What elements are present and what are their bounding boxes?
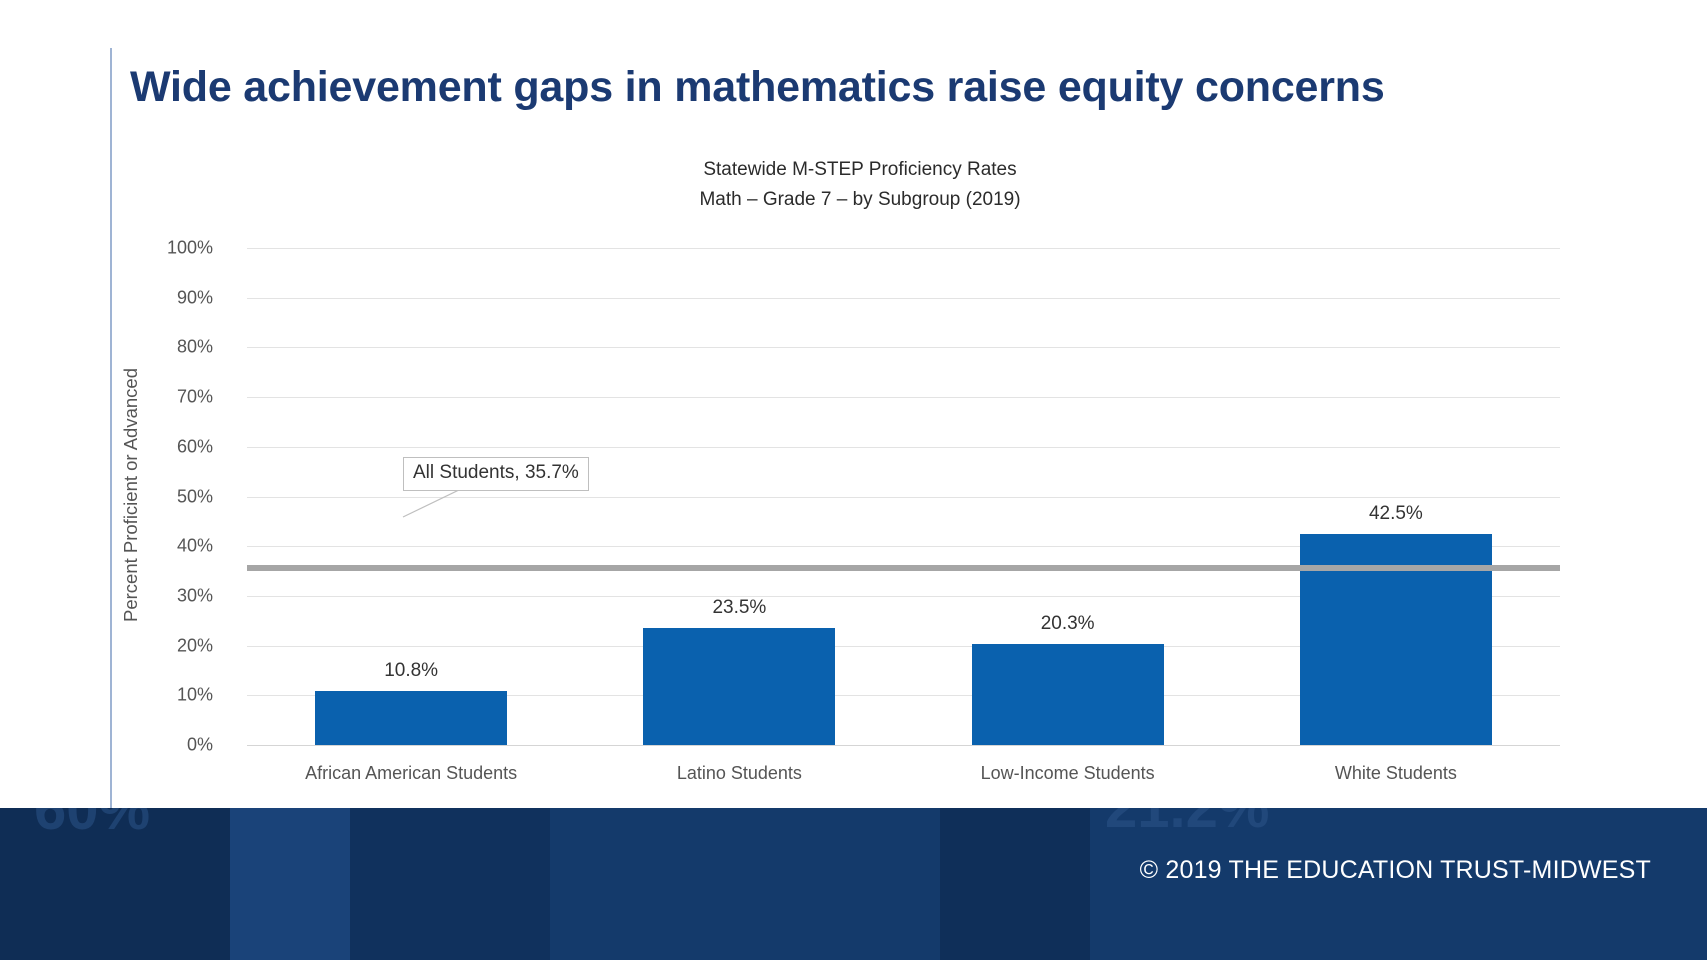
y-tick-70%: 70%: [177, 387, 213, 408]
x-axis-category-label: African American Students: [305, 763, 517, 784]
bar-latino-students[interactable]: [643, 628, 835, 745]
y-tick-60%: 60%: [177, 436, 213, 457]
y-tick-10%: 10%: [177, 685, 213, 706]
chart-subtitle: Statewide M-STEP Proficiency Rates Math …: [520, 155, 1200, 215]
gridline-100%: [247, 248, 1560, 249]
average-callout[interactable]: All Students, 35.7%: [403, 457, 589, 491]
y-tick-30%: 30%: [177, 585, 213, 606]
footer-band: 60% 21.2% © 2019 THE EDUCATION TRUST-MID…: [0, 808, 1707, 960]
bar-low-income-students[interactable]: [972, 644, 1164, 745]
copyright-text: © 2019 THE EDUCATION TRUST-MIDWEST: [1140, 856, 1651, 885]
footer-stripe-4: [940, 808, 1090, 960]
x-axis-category-label: White Students: [1335, 763, 1457, 784]
gridline-80%: [247, 347, 1560, 348]
y-tick-40%: 40%: [177, 536, 213, 557]
footer-ghost-text-right: 21.2%: [1105, 808, 1269, 841]
y-tick-90%: 90%: [177, 287, 213, 308]
average-reference-line: [247, 565, 1560, 571]
bar-african-american-students[interactable]: [315, 691, 507, 745]
x-axis-category-label: Latino Students: [677, 763, 802, 784]
gridline-60%: [247, 447, 1560, 448]
bar-value-label: 42.5%: [1369, 503, 1423, 525]
gridline-0%: [247, 745, 1560, 746]
footer-stripe-2: [230, 808, 350, 960]
chart-subtitle-line-1: Statewide M-STEP Proficiency Rates: [520, 155, 1200, 185]
y-tick-0%: 0%: [187, 735, 213, 756]
page-title: Wide achievement gaps in mathematics rai…: [130, 63, 1580, 112]
bar-value-label: 20.3%: [1041, 613, 1095, 635]
y-tick-20%: 20%: [177, 635, 213, 656]
bar-value-label: 23.5%: [712, 597, 766, 619]
footer-ghost-text-left: 60%: [34, 808, 150, 843]
slide-root: Wide achievement gaps in mathematics rai…: [0, 0, 1707, 960]
y-tick-100%: 100%: [167, 238, 213, 259]
footer-stripe-3: [350, 808, 550, 960]
bar-value-label: 10.8%: [384, 660, 438, 682]
y-tick-50%: 50%: [177, 486, 213, 507]
y-tick-80%: 80%: [177, 337, 213, 358]
gridline-50%: [247, 497, 1560, 498]
gridline-70%: [247, 397, 1560, 398]
chart-subtitle-line-2: Math – Grade 7 – by Subgroup (2019): [520, 185, 1200, 215]
gridline-90%: [247, 298, 1560, 299]
x-axis-category-label: Low-Income Students: [981, 763, 1155, 784]
y-axis-tick-labels: 0%10%20%30%40%50%60%70%80%90%100%: [0, 248, 233, 745]
plot-area: 10.8%African American Students23.5%Latin…: [247, 248, 1560, 745]
